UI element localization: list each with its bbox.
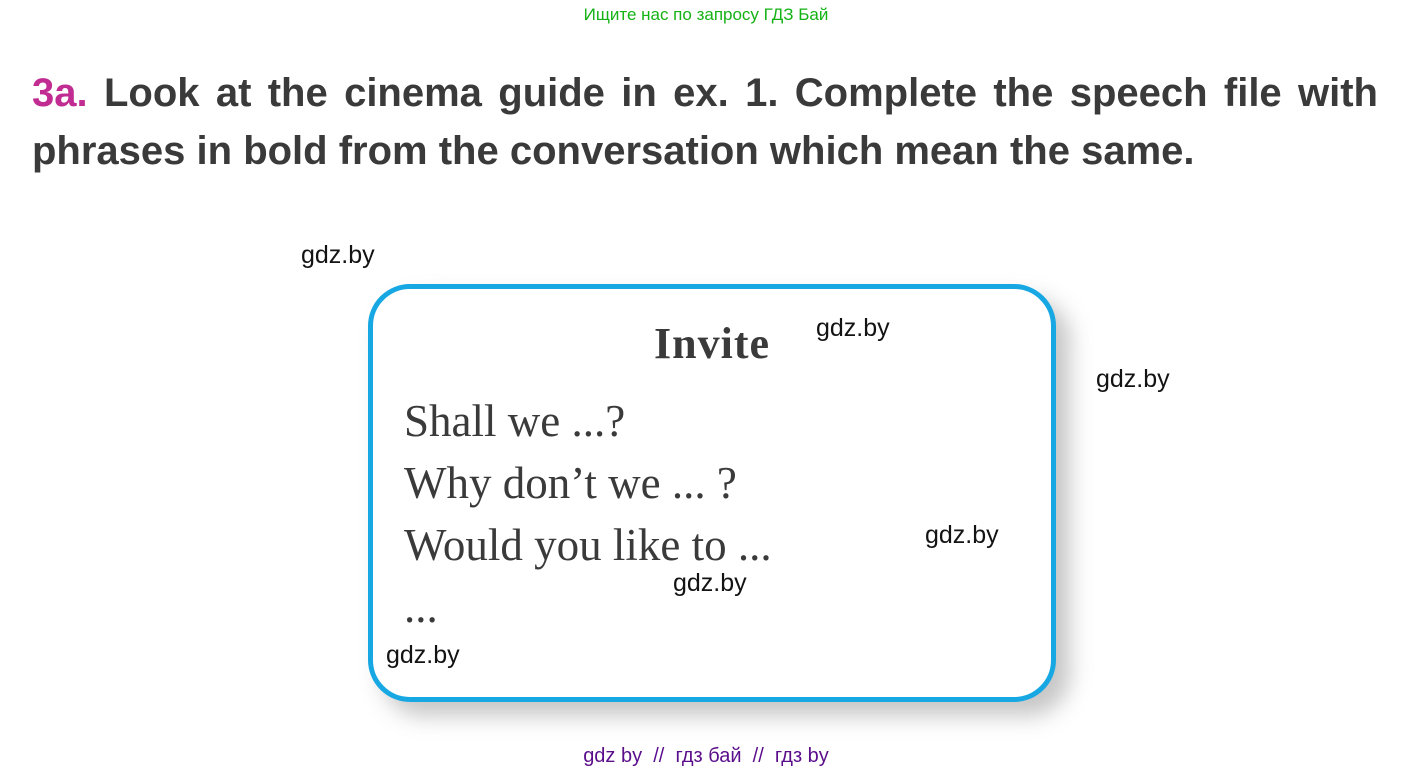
watermark: gdz.by: [925, 521, 999, 550]
watermark: gdz.by: [386, 641, 460, 670]
watermark: gdz.by: [673, 569, 747, 598]
site-promo-banner: Ищите нас по запросу ГДЗ Бай: [0, 0, 1412, 30]
speech-file-card-title: Invite: [368, 318, 1056, 369]
exercise-number: 3a.: [32, 71, 88, 115]
exercise-instruction-text: Look at the cinema guide in ex. 1. Compl…: [32, 71, 1378, 173]
phrase-item: Shall we ...?: [404, 390, 1024, 452]
phrase-item: Why don’t we ... ?: [404, 452, 1024, 514]
watermark: gdz.by: [1096, 365, 1170, 394]
site-footer-watermark: gdz by // гдз бай // гдз by: [0, 745, 1412, 768]
exercise-heading: 3a. Look at the cinema guide in ex. 1. C…: [32, 64, 1378, 180]
watermark: gdz.by: [816, 314, 890, 343]
speech-file-card: Invite Shall we ...? Why don’t we ... ? …: [368, 284, 1056, 702]
watermark: gdz.by: [301, 241, 375, 270]
speech-file-phrase-list: Shall we ...? Why don’t we ... ? Would y…: [404, 390, 1024, 638]
